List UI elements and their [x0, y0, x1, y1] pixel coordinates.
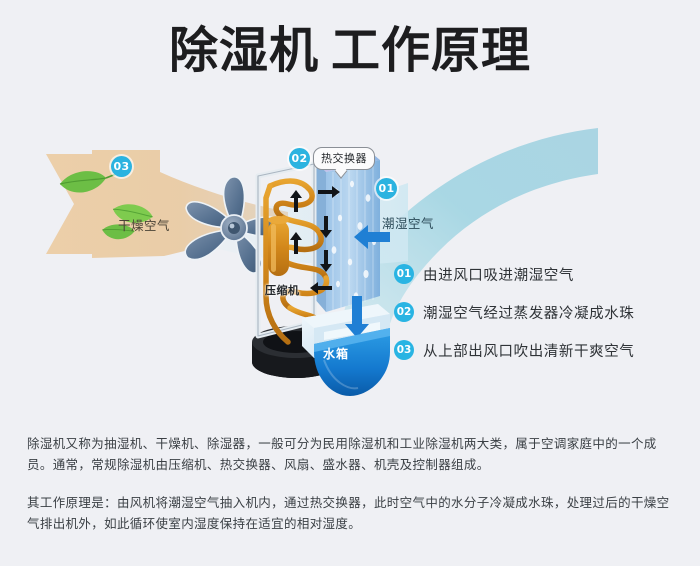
legend-text-03: 从上部出风口吹出清新干爽空气: [423, 340, 634, 361]
paragraph-1: 除湿机又称为抽湿机、干燥机、除湿器，一般可分为民用除湿机和工业除湿机两大类，属于…: [27, 433, 677, 475]
legend-badge-02: 02: [394, 302, 414, 322]
legend-badge-01: 01: [394, 264, 414, 284]
legend-text-02: 潮湿空气经过蒸发器冷凝成水珠: [423, 302, 634, 323]
diagram-badge-01: 01: [376, 178, 397, 199]
title-part-2: 工作原理: [331, 22, 531, 79]
legend-item-01: 01 由进风口吸进潮湿空气: [394, 255, 694, 293]
title-part-1: 除湿机: [169, 22, 319, 79]
legend-item-03: 03 从上部出风口吹出清新干爽空气: [394, 331, 694, 369]
dehumidifier-unit: [240, 146, 390, 396]
legend-item-02: 02 潮湿空气经过蒸发器冷凝成水珠: [394, 293, 694, 331]
label-humid-air: 潮湿空气: [382, 213, 434, 232]
label-water-tank: 水箱: [323, 345, 349, 362]
page-title: 除湿机工作原理: [0, 26, 700, 75]
label-compressor: 压缩机: [265, 282, 300, 298]
diagram-badge-02: 02: [289, 148, 310, 169]
legend-badge-03: 03: [394, 340, 414, 360]
diagram-badge-03: 03: [111, 156, 132, 177]
compressor-icon: [268, 216, 289, 276]
steps-legend: 01 由进风口吸进潮湿空气 02 潮湿空气经过蒸发器冷凝成水珠 03 从上部出风…: [394, 255, 694, 369]
label-dry-air: 干燥空气: [118, 215, 170, 234]
description-block: 除湿机又称为抽湿机、干燥机、除湿器，一般可分为民用除湿机和工业除湿机两大类，属于…: [27, 420, 677, 546]
legend-text-01: 由进风口吸进潮湿空气: [423, 264, 574, 285]
heat-exchanger-callout: 热交换器: [313, 147, 375, 170]
paragraph-2: 其工作原理是：由风机将潮湿空气抽入机内，通过热交换器，此时空气中的水分子冷凝成水…: [27, 492, 677, 534]
